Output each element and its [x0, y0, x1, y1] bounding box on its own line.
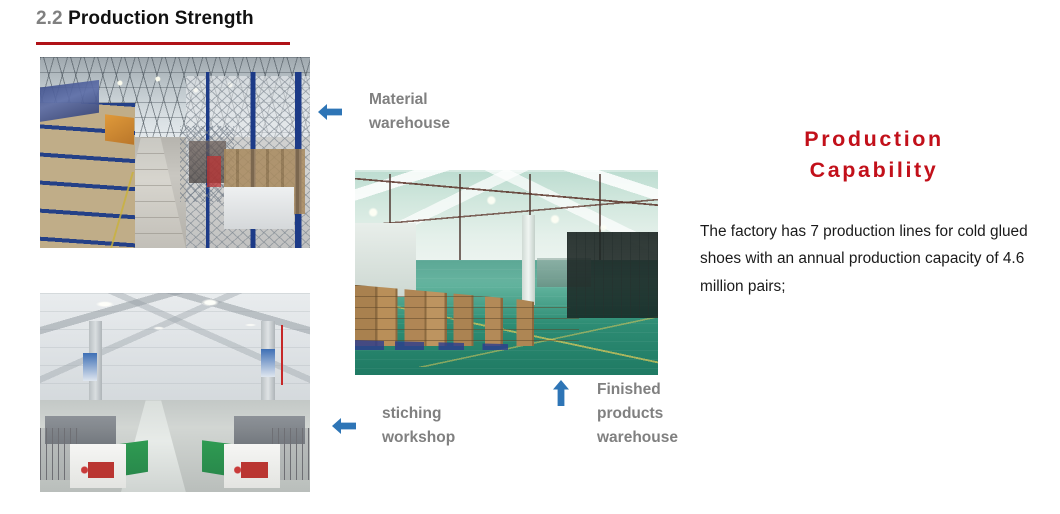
capability-heading: Production Capability — [700, 124, 1048, 185]
title-underline-rule — [36, 42, 290, 45]
arrow-left-icon — [332, 417, 356, 435]
callout-stiching-workshop-label: stichingworkshop — [382, 402, 455, 450]
material-warehouse-photo — [40, 57, 310, 248]
callout-finished-products-warehouse-label: Finishedproductswarehouse — [597, 378, 678, 450]
left-company-logo — [81, 462, 116, 478]
callout-finished-products-warehouse: Finishedproductswarehouse — [552, 380, 678, 450]
centre-column — [522, 215, 536, 305]
callout-material-warehouse-label: Materialwarehouse — [369, 88, 450, 136]
arrow-up-icon — [552, 380, 570, 406]
right-dark-racking — [567, 232, 658, 318]
callout-stiching-workshop: stichingworkshop — [332, 402, 455, 450]
white-barrier-panel — [224, 187, 294, 229]
finished-products-photo — [355, 170, 658, 375]
right-company-logo — [234, 462, 269, 478]
section-number: 2.2 — [36, 8, 63, 29]
capability-body-text: The factory has 7 production lines for c… — [700, 218, 1052, 300]
page-title: 2.2 Production Strength — [36, 8, 254, 30]
callout-material-warehouse: Materialwarehouse — [318, 88, 450, 136]
red-pipe — [281, 325, 283, 385]
orange-carton-stack — [105, 114, 135, 145]
finished-products-scene — [355, 170, 658, 375]
capability-heading-line1: Production — [700, 124, 1048, 155]
page-title-text: Production Strength — [68, 8, 254, 29]
arrow-left-icon — [318, 103, 342, 121]
material-warehouse-scene — [40, 57, 310, 248]
red-cart — [207, 156, 221, 187]
stiching-workshop-photo — [40, 293, 310, 492]
stiching-workshop-scene — [40, 293, 310, 492]
right-hanging-banner — [261, 349, 275, 377]
left-hanging-banner — [83, 353, 97, 381]
capability-heading-line2: Capability — [700, 155, 1048, 186]
